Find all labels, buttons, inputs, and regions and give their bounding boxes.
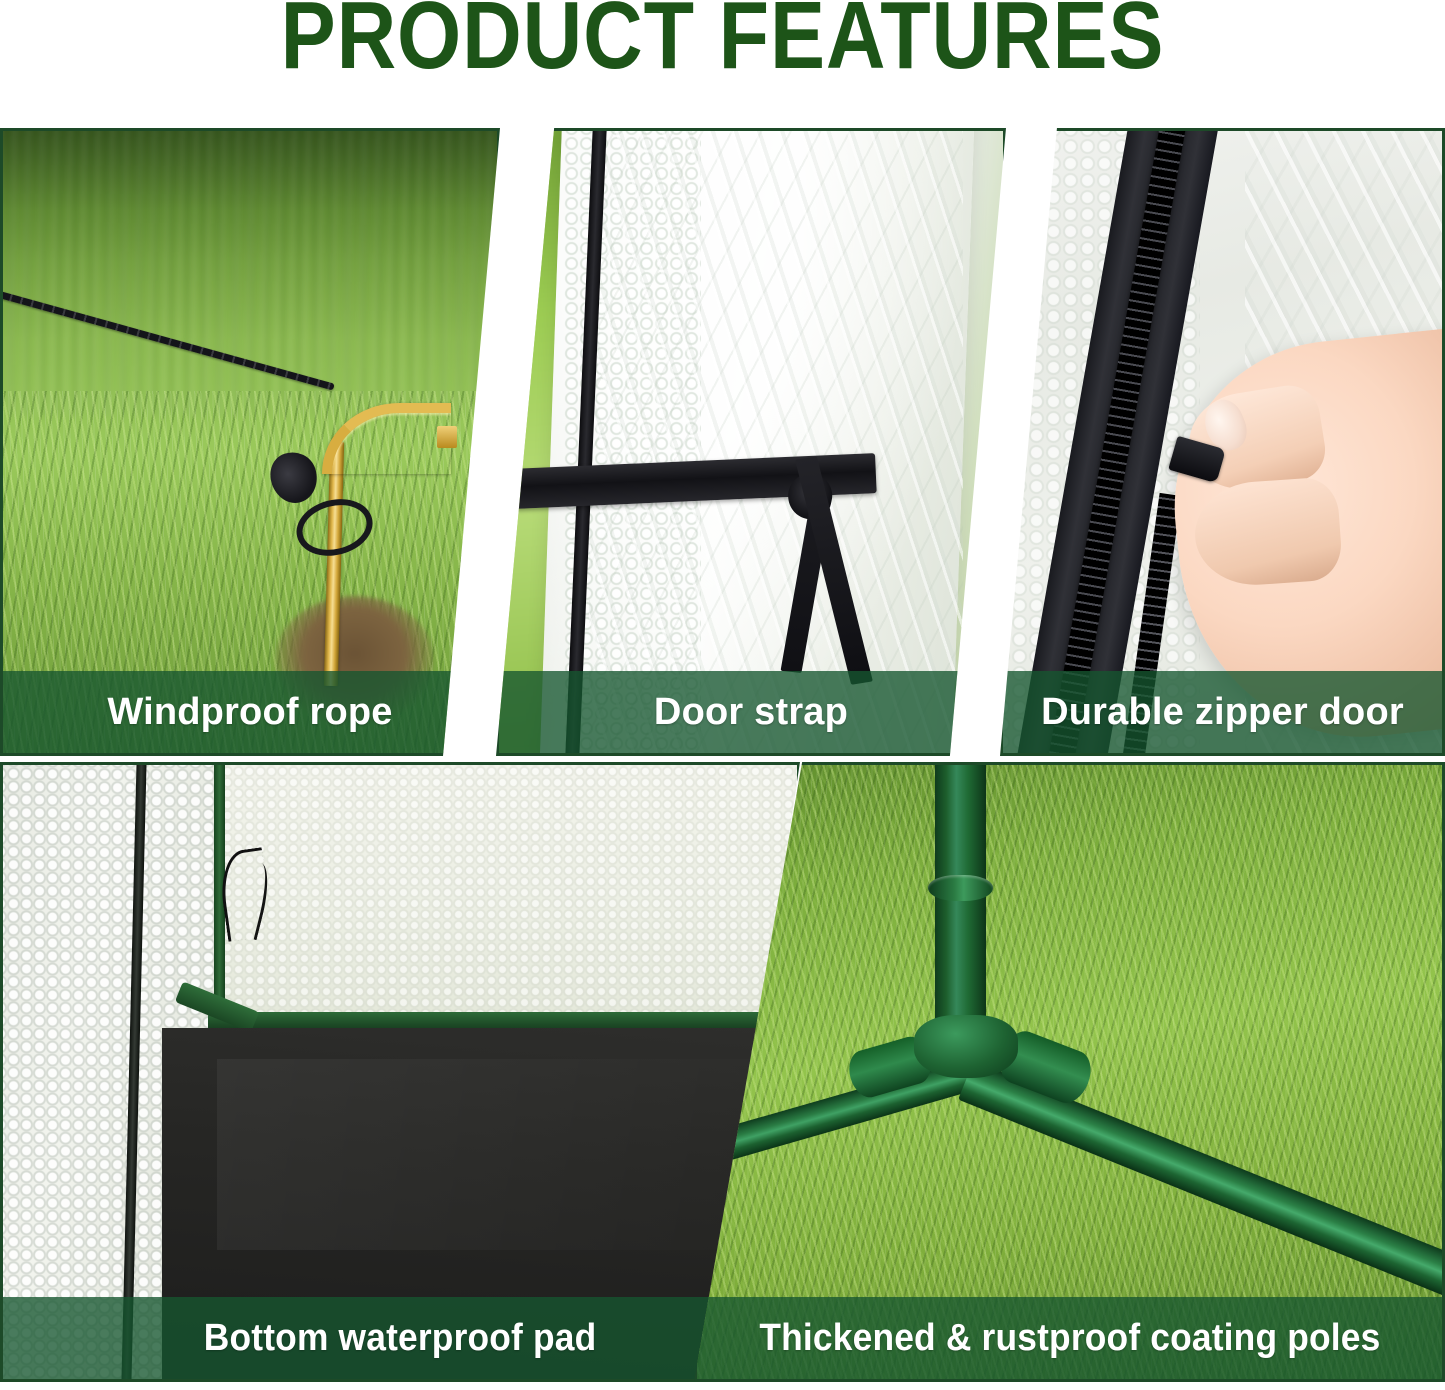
feature-row-bottom: Bottom waterproof pad Thickened & rustpr… — [0, 762, 1445, 1382]
caption-label-bottom-waterproof-pad: Bottom waterproof pad — [204, 1317, 597, 1360]
feature-row-top: Windproof rope Door strap — [0, 128, 1445, 756]
photo-durable-zipper-door — [1000, 128, 1445, 756]
photo-windproof-rope — [0, 128, 500, 756]
caption-label-durable-zipper-door: Durable zipper door — [1041, 691, 1404, 734]
caption-band-door-strap: Door strap — [499, 671, 1003, 753]
title-bar: PRODUCT FEATURES — [0, 0, 1445, 120]
photo-coating-poles — [694, 762, 1445, 1382]
product-features-infographic: PRODUCT FEATURES Windproof rope — [0, 0, 1445, 1390]
feature-panel-windproof-rope[interactable]: Windproof rope — [0, 128, 500, 756]
photo-door-strap — [496, 128, 1006, 756]
caption-band-windproof-rope: Windproof rope — [3, 671, 497, 753]
tent-stake-tip-icon — [437, 426, 457, 448]
caption-label-windproof-rope: Windproof rope — [107, 691, 392, 734]
caption-label-coating-poles: Thickened & rustproof coating poles — [759, 1317, 1380, 1360]
photo-bottom-waterproof-pad — [0, 762, 800, 1382]
caption-band-coating-poles: Thickened & rustproof coating poles — [697, 1297, 1442, 1379]
grass-blur-background — [0, 128, 500, 416]
page-title: PRODUCT FEATURES — [101, 0, 1344, 88]
caption-band-bottom-waterproof-pad: Bottom waterproof pad — [3, 1297, 797, 1379]
pole-collar-icon — [928, 875, 994, 900]
feature-panel-door-strap[interactable]: Door strap — [496, 128, 1006, 756]
feature-panel-bottom-waterproof-pad[interactable]: Bottom waterproof pad — [0, 762, 800, 1382]
caption-label-door-strap: Door strap — [654, 691, 848, 734]
greenhouse-back-wall — [222, 762, 800, 1021]
caption-band-durable-zipper-door: Durable zipper door — [1003, 671, 1442, 753]
feature-panel-durable-zipper-door[interactable]: Durable zipper door — [1000, 128, 1445, 756]
film-crinkle-texture — [589, 128, 963, 756]
floor-pad-sheen — [217, 1059, 800, 1249]
feature-panel-coating-poles[interactable]: Thickened & rustproof coating poles — [694, 762, 1445, 1382]
three-way-joint-icon — [914, 1015, 1018, 1078]
